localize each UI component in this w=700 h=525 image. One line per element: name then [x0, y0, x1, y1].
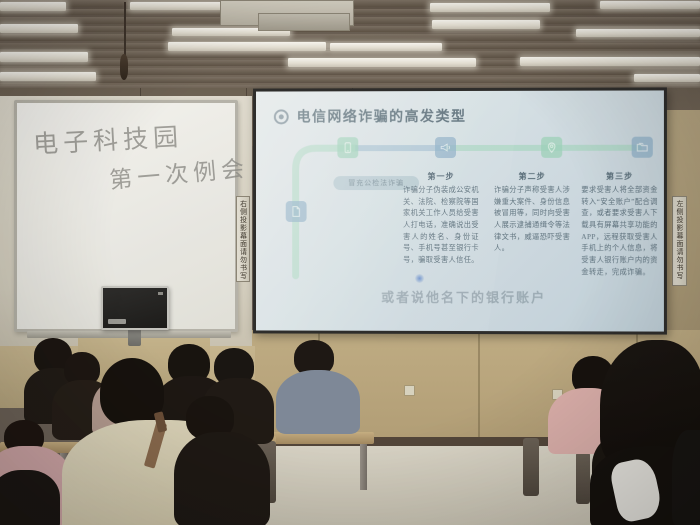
ceiling-light: [0, 52, 88, 62]
pipeline-node-folder-icon[interactable]: [632, 137, 653, 158]
wall-sign-right: 左侧投影幕面请勿书写: [672, 196, 687, 286]
monitor-stand: [128, 328, 141, 346]
process-pipeline: 冒充公检法诈骗 第一步 诈骗分子伪装成公安机关、法院、检察院等国家机关工作人员给…: [256, 90, 664, 331]
wall-sign-left: 右侧投影幕面请勿书写: [236, 196, 250, 282]
desk-leg: [360, 444, 367, 490]
ceiling-light: [330, 43, 442, 51]
step-column-2: 第二步 诈骗分子声称受害人涉嫌重大案件、身份信息被冒用等，同时向受害人展示逮捕通…: [494, 171, 570, 255]
projection-screen: 电信网络诈骗的高发类型: [253, 87, 667, 334]
power-outlet[interactable]: [404, 385, 415, 396]
ceiling-light: [0, 24, 78, 33]
step-column-3: 第三步 要求受害人将全部资金转入“安全账户”配合调查，或者要求受害人下载具有屏幕…: [581, 171, 658, 279]
classroom-scene: 电子科技园 第一次例会 右侧投影幕面请勿书写 左侧投影幕面请勿书写 电信网络诈骗…: [0, 0, 700, 525]
hanging-cord: [124, 2, 126, 56]
whiteboard-text-line1: 电子科技园: [32, 117, 184, 161]
ceiling-light: [634, 74, 700, 82]
ceiling-light: [430, 3, 550, 12]
chair-back: [576, 452, 590, 504]
ceiling: [0, 0, 700, 92]
chair-back: [523, 438, 539, 496]
person-body: [672, 430, 700, 525]
pipeline-node-megaphone-icon[interactable]: [435, 137, 456, 158]
person-body: [0, 470, 60, 525]
wall-sign-right-text: 左侧投影幕面请勿书写: [676, 200, 683, 280]
monitor-label: [108, 319, 126, 324]
step-2-body: 诈骗分子声称受害人涉嫌重大案件、身份信息被冒用等，同时向受害人展示逮捕通缉令等法…: [494, 185, 570, 255]
presentation-slide: 电信网络诈骗的高发类型: [256, 90, 664, 331]
monitor-power-led: [158, 292, 163, 295]
ceiling-light: [288, 58, 476, 67]
ceiling-light: [600, 1, 700, 9]
ceiling-light: [168, 42, 326, 51]
cord-weight: [120, 54, 128, 80]
step-3-body: 要求受害人将全部资金转入“安全账户”配合调查，或者要求受害人下载具有屏幕共享功能…: [581, 185, 658, 279]
slide-bottom-caption: 或者说他名下的银行账户: [381, 287, 546, 306]
pipeline-node-location-pin-icon[interactable]: [541, 137, 562, 158]
ceiling-light: [576, 29, 700, 37]
ceiling-light: [520, 57, 700, 66]
person-body: [276, 370, 360, 434]
person-body: [174, 432, 270, 525]
air-vent: [258, 13, 350, 31]
ceiling-light: [0, 72, 96, 81]
projector-cursor: [415, 274, 424, 283]
computer-monitor[interactable]: [101, 286, 169, 330]
step-1-label: 第一步: [403, 171, 479, 182]
step-2-label: 第二步: [494, 171, 570, 182]
ceiling-light: [0, 2, 66, 11]
pipeline-node-phone-square-icon[interactable]: [337, 137, 358, 158]
step-1-body: 诈骗分子伪装成公安机关、法院、检察院等国家机关工作人员给受害人打电话，准确说出受…: [403, 185, 479, 267]
ceiling-light: [130, 2, 222, 10]
ceiling-light: [432, 20, 540, 29]
pipeline-node-document-icon[interactable]: [286, 201, 307, 222]
step-3-label: 第三步: [581, 171, 658, 182]
step-column-1: 第一步 诈骗分子伪装成公安机关、法院、检察院等国家机关工作人员给受害人打电话，准…: [403, 171, 479, 267]
wall-sign-left-text: 右侧投影幕面请勿书写: [240, 200, 247, 280]
